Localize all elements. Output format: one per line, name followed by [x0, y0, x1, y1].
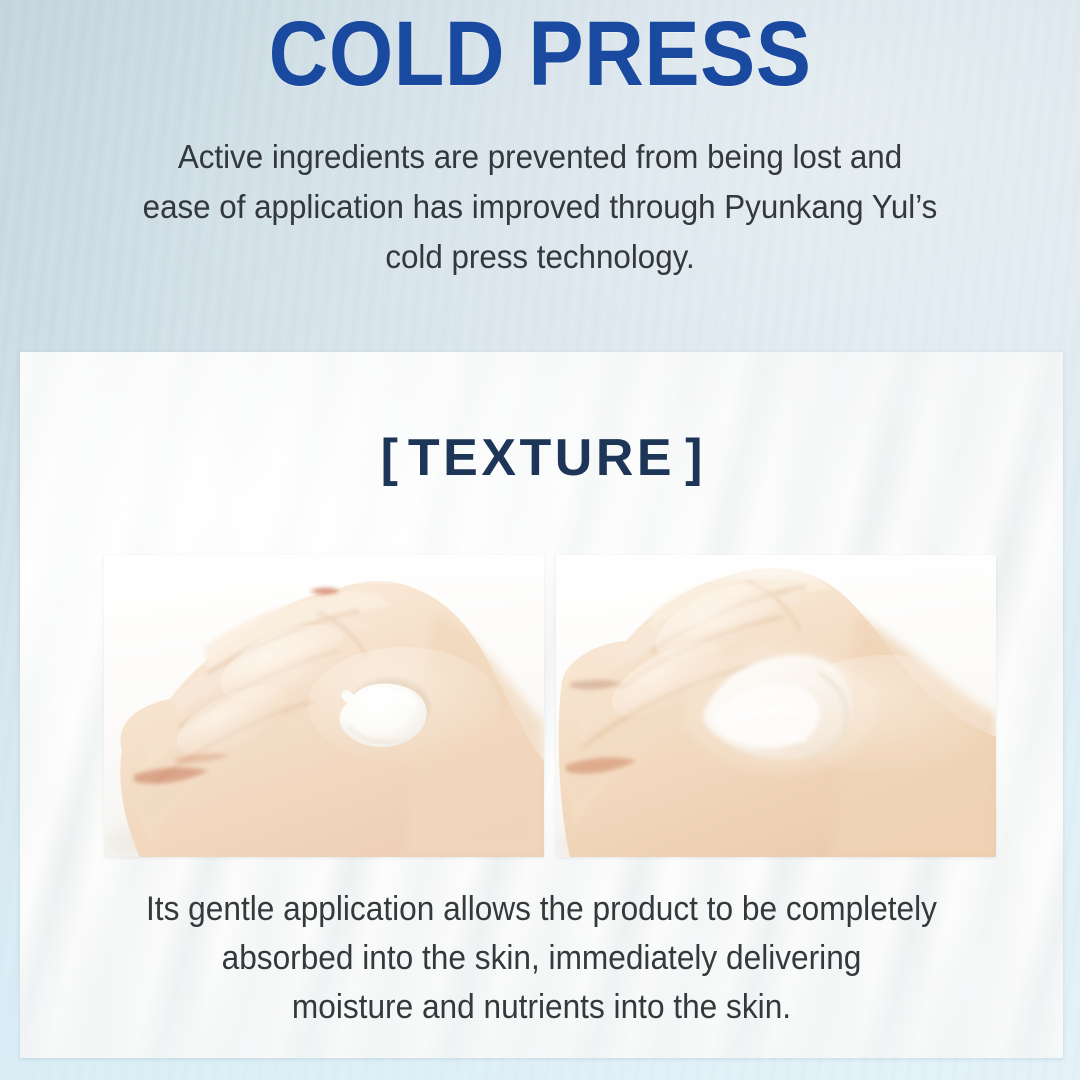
card-caption-line-3: moisture and nutrients into the skin. — [94, 983, 990, 1032]
page-subtitle: Active ingredients are prevented from be… — [119, 133, 961, 283]
section-title-word: TEXTURE — [408, 429, 675, 487]
section-title-bracket-close: ] — [685, 429, 702, 487]
page-title: COLD PRESS — [54, 4, 1026, 104]
page-subtitle-line-3: cold press technology. — [119, 233, 961, 283]
card-caption: Its gentle application allows the produc… — [94, 885, 990, 1032]
promo-page: COLD PRESS Active ingredients are preven… — [0, 0, 1080, 1080]
page-subtitle-line-2: ease of application has improved through… — [119, 183, 961, 233]
section-title-bracket-open: [ — [381, 429, 398, 487]
page-subtitle-line-1: Active ingredients are prevented from be… — [119, 133, 961, 183]
card-caption-line-2: absorbed into the skin, immediately deli… — [94, 934, 990, 983]
texture-card: [TEXTURE] — [20, 352, 1063, 1058]
section-title: [TEXTURE] — [20, 428, 1063, 488]
hand-dollop-illustration — [104, 555, 544, 857]
photo-hand-with-cream-spread — [556, 555, 996, 857]
card-caption-line-1: Its gentle application allows the produc… — [94, 885, 990, 934]
hand-spread-illustration — [556, 555, 996, 857]
photo-hand-with-cream-dollop — [104, 555, 544, 857]
